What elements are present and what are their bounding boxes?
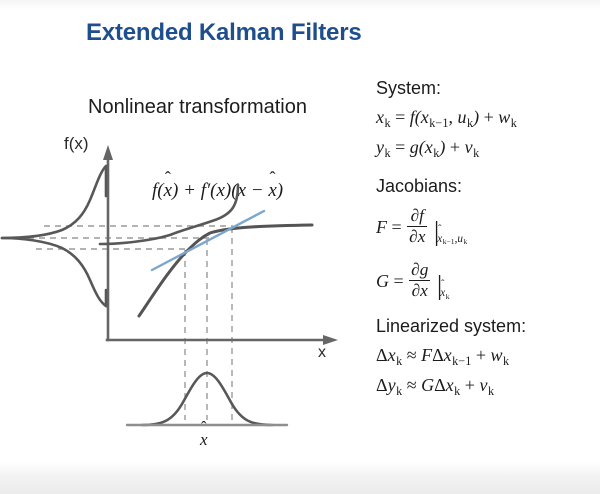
jacobian-F-denominator: ∂x [407, 226, 427, 246]
jacobian-G-equation: G = ∂g ∂x |̂xk [376, 261, 600, 302]
tangent-line [152, 211, 264, 270]
linearized-group: Linearized system: Δxk ≈ FΔxk−1 + wk Δyk… [376, 316, 600, 400]
jacobian-G-fraction: ∂g ∂x [409, 261, 430, 300]
equation-column: System: xk = f(xk−1, uk) + wk yk = g(xk)… [376, 78, 600, 404]
system-equation-measurement: yk = g(xk) + vk [376, 135, 600, 161]
x-axis-arrowhead [323, 335, 338, 345]
slide-canvas: Extended Kalman Filters Nonlinear transf… [0, 0, 600, 494]
jacobian-F-equals: = [392, 217, 402, 237]
jacobian-F-fraction: ∂f ∂x [407, 207, 427, 246]
jacobian-G-numerator: ∂g [409, 261, 430, 280]
linearized-equation-measurement: Δyk ≈ GΔxk + vk [376, 373, 600, 399]
jacobian-F-numerator: ∂f [407, 207, 427, 226]
jacobian-G-eval-subscript: ̂xk [440, 286, 449, 302]
linearized-heading: Linearized system: [376, 316, 600, 337]
output-gaussian-left-upper [2, 166, 106, 238]
system-equation-state: xk = f(xk−1, uk) + wk [376, 105, 600, 131]
jacobians-group: Jacobians: F = ∂f ∂x |̂xk−1,uk G = ∂g ∂x… [376, 176, 600, 302]
system-group: System: xk = f(xk−1, uk) + wk yk = g(xk)… [376, 78, 600, 162]
jacobian-F-eval-subscript: ̂xk−1,uk [437, 232, 467, 248]
jacobian-F-equation: F = ∂f ∂x |̂xk−1,uk [376, 207, 600, 248]
jacobians-heading: Jacobians: [376, 176, 600, 197]
jacobian-G-equals: = [394, 271, 404, 291]
output-gaussian-left-lower [2, 238, 106, 306]
y-axis-arrowhead [103, 145, 113, 160]
linearized-equation-state: Δxk ≈ FΔxk−1 + wk [376, 343, 600, 369]
jacobian-G-symbol: G [376, 271, 389, 291]
jacobian-G-denominator: ∂x [409, 280, 430, 300]
jacobian-F-symbol: F [376, 217, 387, 237]
system-heading: System: [376, 78, 600, 99]
